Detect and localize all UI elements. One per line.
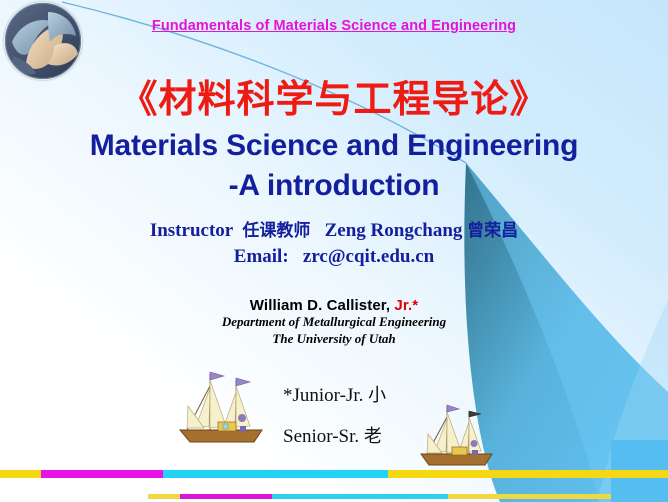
author-suffix: Jr.* (394, 297, 418, 314)
title-en-line2: -A introduction (0, 166, 668, 206)
bar-segment-cyan (272, 494, 448, 499)
note-junior-text: *Junior-Jr. (283, 385, 368, 406)
bar-segment-yellow (0, 470, 41, 478)
header-banner-text: Fundamentals of Materials Science and En… (0, 18, 668, 34)
author-name-line: William D. Callister, Jr.* (0, 297, 668, 314)
bottom-bar-row-1 (0, 470, 668, 478)
note-junior-chinese: 小 (368, 385, 386, 406)
note-senior-text: Senior-Sr. (283, 426, 364, 447)
email-value: zrc@cqit.edu.cn (303, 246, 434, 267)
note-senior: Senior-Sr. 老 (283, 422, 382, 448)
bottom-bar-row-2 (0, 494, 668, 499)
instructor-label-chinese: 任课教师 (242, 221, 310, 241)
title-en-line1: Materials Science and Engineering (0, 126, 668, 166)
author-name: William D. Callister, (250, 297, 395, 314)
page-title-chinese: 《材料科学与工程导论》 (0, 80, 668, 120)
email-label: Email: (234, 246, 289, 267)
email-line: Email: zrc@cqit.edu.cn (0, 244, 668, 270)
logo-artwork (4, 2, 82, 80)
note-junior: *Junior-Jr. 小 (283, 381, 386, 407)
bar-segment-yellow (148, 494, 180, 499)
bar-segment-yellow2 (448, 494, 611, 499)
sailing-ship-left-icon (174, 366, 270, 450)
author-university: The University of Utah (0, 331, 668, 348)
bar-segment-magenta (41, 470, 163, 478)
author-department: Department of Metallurgical Engineering (0, 314, 668, 331)
slide-canvas: Fundamentals of Materials Science and En… (0, 0, 668, 502)
bar-segment-yellow2 (388, 470, 668, 478)
author-block: William D. Callister, Jr.* Department of… (0, 297, 668, 347)
bar-segment-magenta (180, 494, 272, 499)
instructor-label: Instructor (150, 220, 233, 241)
sailing-ship-right-icon (416, 400, 498, 472)
instructor-name-chinese: 曾荣昌 (467, 221, 518, 241)
bar-segment-cyan (163, 470, 388, 478)
instructor-line: Instructor 任课教师 Zeng Rongchang 曾荣昌 (0, 218, 668, 244)
page-title-english: Materials Science and Engineering -A int… (0, 126, 668, 205)
instructor-name: Zeng Rongchang (325, 220, 463, 241)
note-senior-chinese: 老 (364, 426, 382, 447)
circular-logo-image (4, 2, 82, 80)
instructor-block: Instructor 任课教师 Zeng Rongchang 曾荣昌 Email… (0, 218, 668, 269)
